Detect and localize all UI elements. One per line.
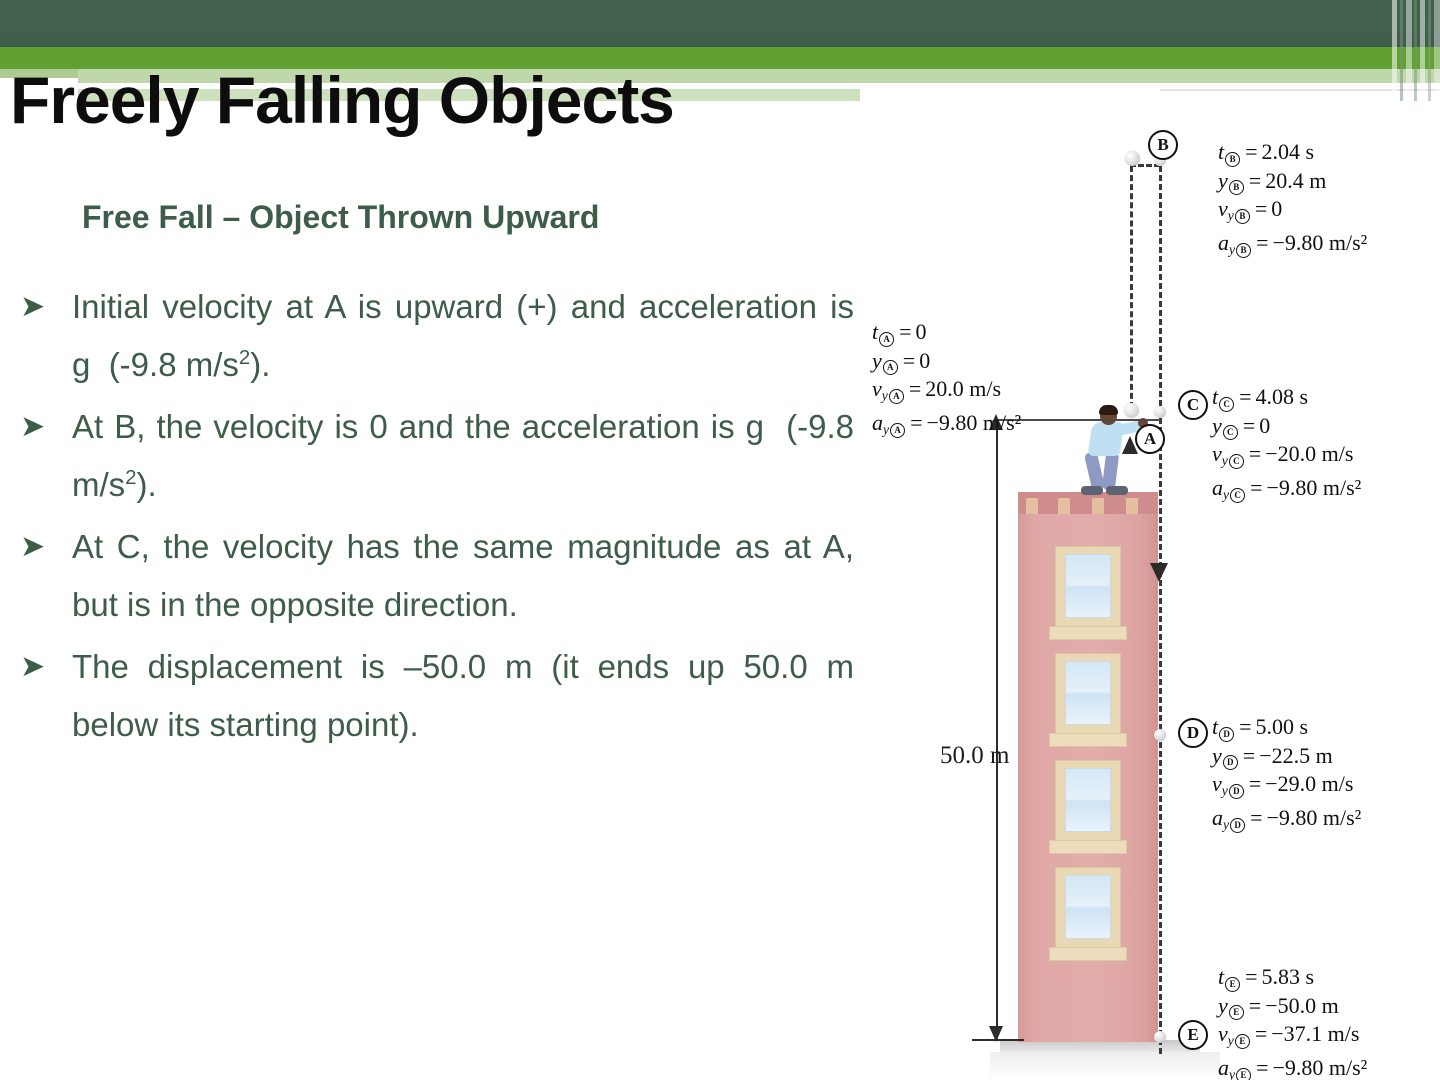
value-b-vy: 0 (1271, 196, 1282, 221)
bullet-text-4: The displacement is –50.0 m (it ends up … (72, 638, 854, 754)
bullet-text-3: At C, the velocity has the same magnitud… (72, 518, 854, 634)
slide-subtitle: Free Fall – Object Thrown Upward (82, 199, 599, 236)
person-back-shoe (1081, 486, 1103, 495)
dimension-bottom-tick (972, 1039, 1024, 1041)
ball-at-b-up (1125, 151, 1140, 166)
trajectory-down-path (1159, 166, 1162, 1054)
banner-ribbon-4 (1414, 0, 1417, 101)
roof-cap-3 (1092, 498, 1104, 514)
annotation-e-time: tE=5.83 s (1218, 963, 1367, 992)
window-pane (1065, 875, 1111, 939)
annotation-b-velocity: vyB=0 (1218, 195, 1367, 229)
list-item: ➤ The displacement is –50.0 m (it ends u… (14, 638, 854, 754)
annotation-a-position: yA=0 (872, 347, 1021, 376)
annotation-b: tB=2.04 s yB=20.4 m vyB=0 ayB=−9.80 m/s² (1218, 138, 1367, 263)
annotation-a-acceleration: ayA=−9.80 m/s² (872, 409, 1021, 443)
point-marker-a: A (1135, 424, 1165, 454)
banner-ribbon-7 (1434, 0, 1440, 101)
list-item: ➤ At B, the velocity is 0 and the accele… (14, 398, 854, 514)
annotation-e-position: yE=−50.0 m (1218, 992, 1367, 1021)
window-2 (1055, 653, 1121, 745)
value-c-ay: −9.80 m/s² (1266, 475, 1361, 500)
annotation-d-position: yD=−22.5 m (1212, 742, 1361, 771)
person-front-leg (1102, 451, 1120, 490)
banner-dark-band (0, 0, 1440, 47)
bullet-text-2: At B, the velocity is 0 and the accelera… (72, 398, 854, 514)
roof-cap-1 (1026, 498, 1038, 514)
annotation-e-velocity: vyE=−37.1 m/s (1218, 1020, 1367, 1054)
arrow-bullet-icon: ➤ (14, 518, 72, 576)
annotation-b-position: yB=20.4 m (1218, 167, 1367, 196)
point-marker-e: E (1178, 1020, 1208, 1050)
person-hair (1099, 405, 1118, 415)
arrow-bullet-icon: ➤ (14, 638, 72, 696)
window-pane (1065, 554, 1111, 618)
banner-shadow-line (1160, 89, 1440, 91)
arrow-bullet-icon: ➤ (14, 278, 72, 336)
ground-shadow (990, 1052, 1220, 1080)
point-marker-d: D (1178, 718, 1208, 748)
annotation-e-acceleration: ayE=−9.80 m/s² (1218, 1054, 1367, 1080)
window-sill (1049, 840, 1127, 854)
banner-ribbon-6 (1428, 0, 1431, 101)
list-item: ➤ Initial velocity at A is upward (+) an… (14, 278, 854, 394)
height-label: 50.0 m (940, 742, 1009, 770)
annotation-c-acceleration: ayC=−9.80 m/s² (1212, 474, 1361, 508)
window-sill (1049, 626, 1127, 640)
slide-root: Freely Falling Objects Free Fall – Objec… (0, 0, 1440, 1080)
value-e-ay: −9.80 m/s² (1272, 1055, 1367, 1080)
annotation-c-velocity: vyC=−20.0 m/s (1212, 440, 1361, 474)
roof-cap-4 (1126, 498, 1138, 514)
ball-at-c (1154, 406, 1166, 418)
slide-title: Freely Falling Objects (10, 62, 674, 138)
arrow-bullet-icon: ➤ (14, 398, 72, 456)
point-marker-b: B (1148, 130, 1178, 160)
annotation-d-acceleration: ayD=−9.80 m/s² (1212, 804, 1361, 838)
banner-ribbon-2 (1400, 0, 1403, 101)
value-c-t: 4.08 s (1256, 384, 1309, 409)
value-a-t: 0 (916, 319, 927, 344)
window-pane (1065, 768, 1111, 832)
value-a-ay: −9.80 m/s² (926, 410, 1021, 435)
value-a-vy: 20.0 m/s (925, 376, 1001, 401)
annotation-d-time: tD=5.00 s (1212, 713, 1361, 742)
value-e-y: −50.0 m (1265, 993, 1339, 1018)
annotation-c: tC=4.08 s yC=0 vyC=−20.0 m/s ayC=−9.80 m… (1212, 383, 1361, 508)
annotation-b-acceleration: ayB=−9.80 m/s² (1218, 229, 1367, 263)
point-marker-c: C (1178, 390, 1208, 420)
value-c-y: 0 (1259, 413, 1270, 438)
value-e-t: 5.83 s (1262, 964, 1315, 989)
ball-at-d (1154, 729, 1166, 741)
annotation-a-velocity: vyA=20.0 m/s (872, 375, 1021, 409)
bullet-list: ➤ Initial velocity at A is upward (+) an… (14, 278, 854, 758)
annotation-e: tE=5.83 s yE=−50.0 m vyE=−37.1 m/s ayE=−… (1218, 963, 1367, 1080)
window-pane (1065, 661, 1111, 725)
value-d-t: 5.00 s (1256, 714, 1309, 739)
value-a-y: 0 (919, 348, 930, 373)
ball-at-a (1124, 403, 1139, 418)
ball-at-e (1154, 1031, 1166, 1043)
banner-ribbon-1 (1392, 0, 1397, 101)
bullet-text-1: Initial velocity at A is upward (+) and … (72, 278, 854, 394)
free-fall-diagram: 50.0 m B A C D E tB=2.04 s yB=20.4 m vyB… (860, 118, 1440, 1080)
value-e-vy: −37.1 m/s (1271, 1021, 1359, 1046)
banner-ribbon-5 (1420, 0, 1425, 101)
value-c-vy: −20.0 m/s (1265, 441, 1353, 466)
annotation-a-time: tA=0 (872, 318, 1021, 347)
annotation-c-time: tC=4.08 s (1212, 383, 1361, 412)
window-1 (1055, 546, 1121, 638)
dimension-line (996, 420, 998, 1040)
annotation-d: tD=5.00 s yD=−22.5 m vyD=−29.0 m/s ayD=−… (1212, 713, 1361, 838)
annotation-b-time: tB=2.04 s (1218, 138, 1367, 167)
window-4 (1055, 867, 1121, 959)
value-b-t: 2.04 s (1262, 139, 1315, 164)
annotation-c-position: yC=0 (1212, 412, 1361, 441)
value-d-ay: −9.80 m/s² (1266, 805, 1361, 830)
list-item: ➤ At C, the velocity has the same magnit… (14, 518, 854, 634)
roof-cap-2 (1058, 498, 1070, 514)
value-d-vy: −29.0 m/s (1265, 771, 1353, 796)
value-d-y: −22.5 m (1259, 743, 1333, 768)
window-sill (1049, 947, 1127, 961)
banner-ribbon-3 (1406, 0, 1412, 101)
window-sill (1049, 733, 1127, 747)
value-b-y: 20.4 m (1265, 168, 1326, 193)
trajectory-down-arrow-icon (1150, 563, 1168, 582)
window-3 (1055, 760, 1121, 852)
trajectory-up-path (1130, 166, 1133, 408)
annotation-d-velocity: vyD=−29.0 m/s (1212, 770, 1361, 804)
value-b-ay: −9.80 m/s² (1272, 230, 1367, 255)
person-front-shoe (1106, 486, 1128, 495)
annotation-a: tA=0 yA=0 vyA=20.0 m/s ayA=−9.80 m/s² (872, 318, 1021, 443)
